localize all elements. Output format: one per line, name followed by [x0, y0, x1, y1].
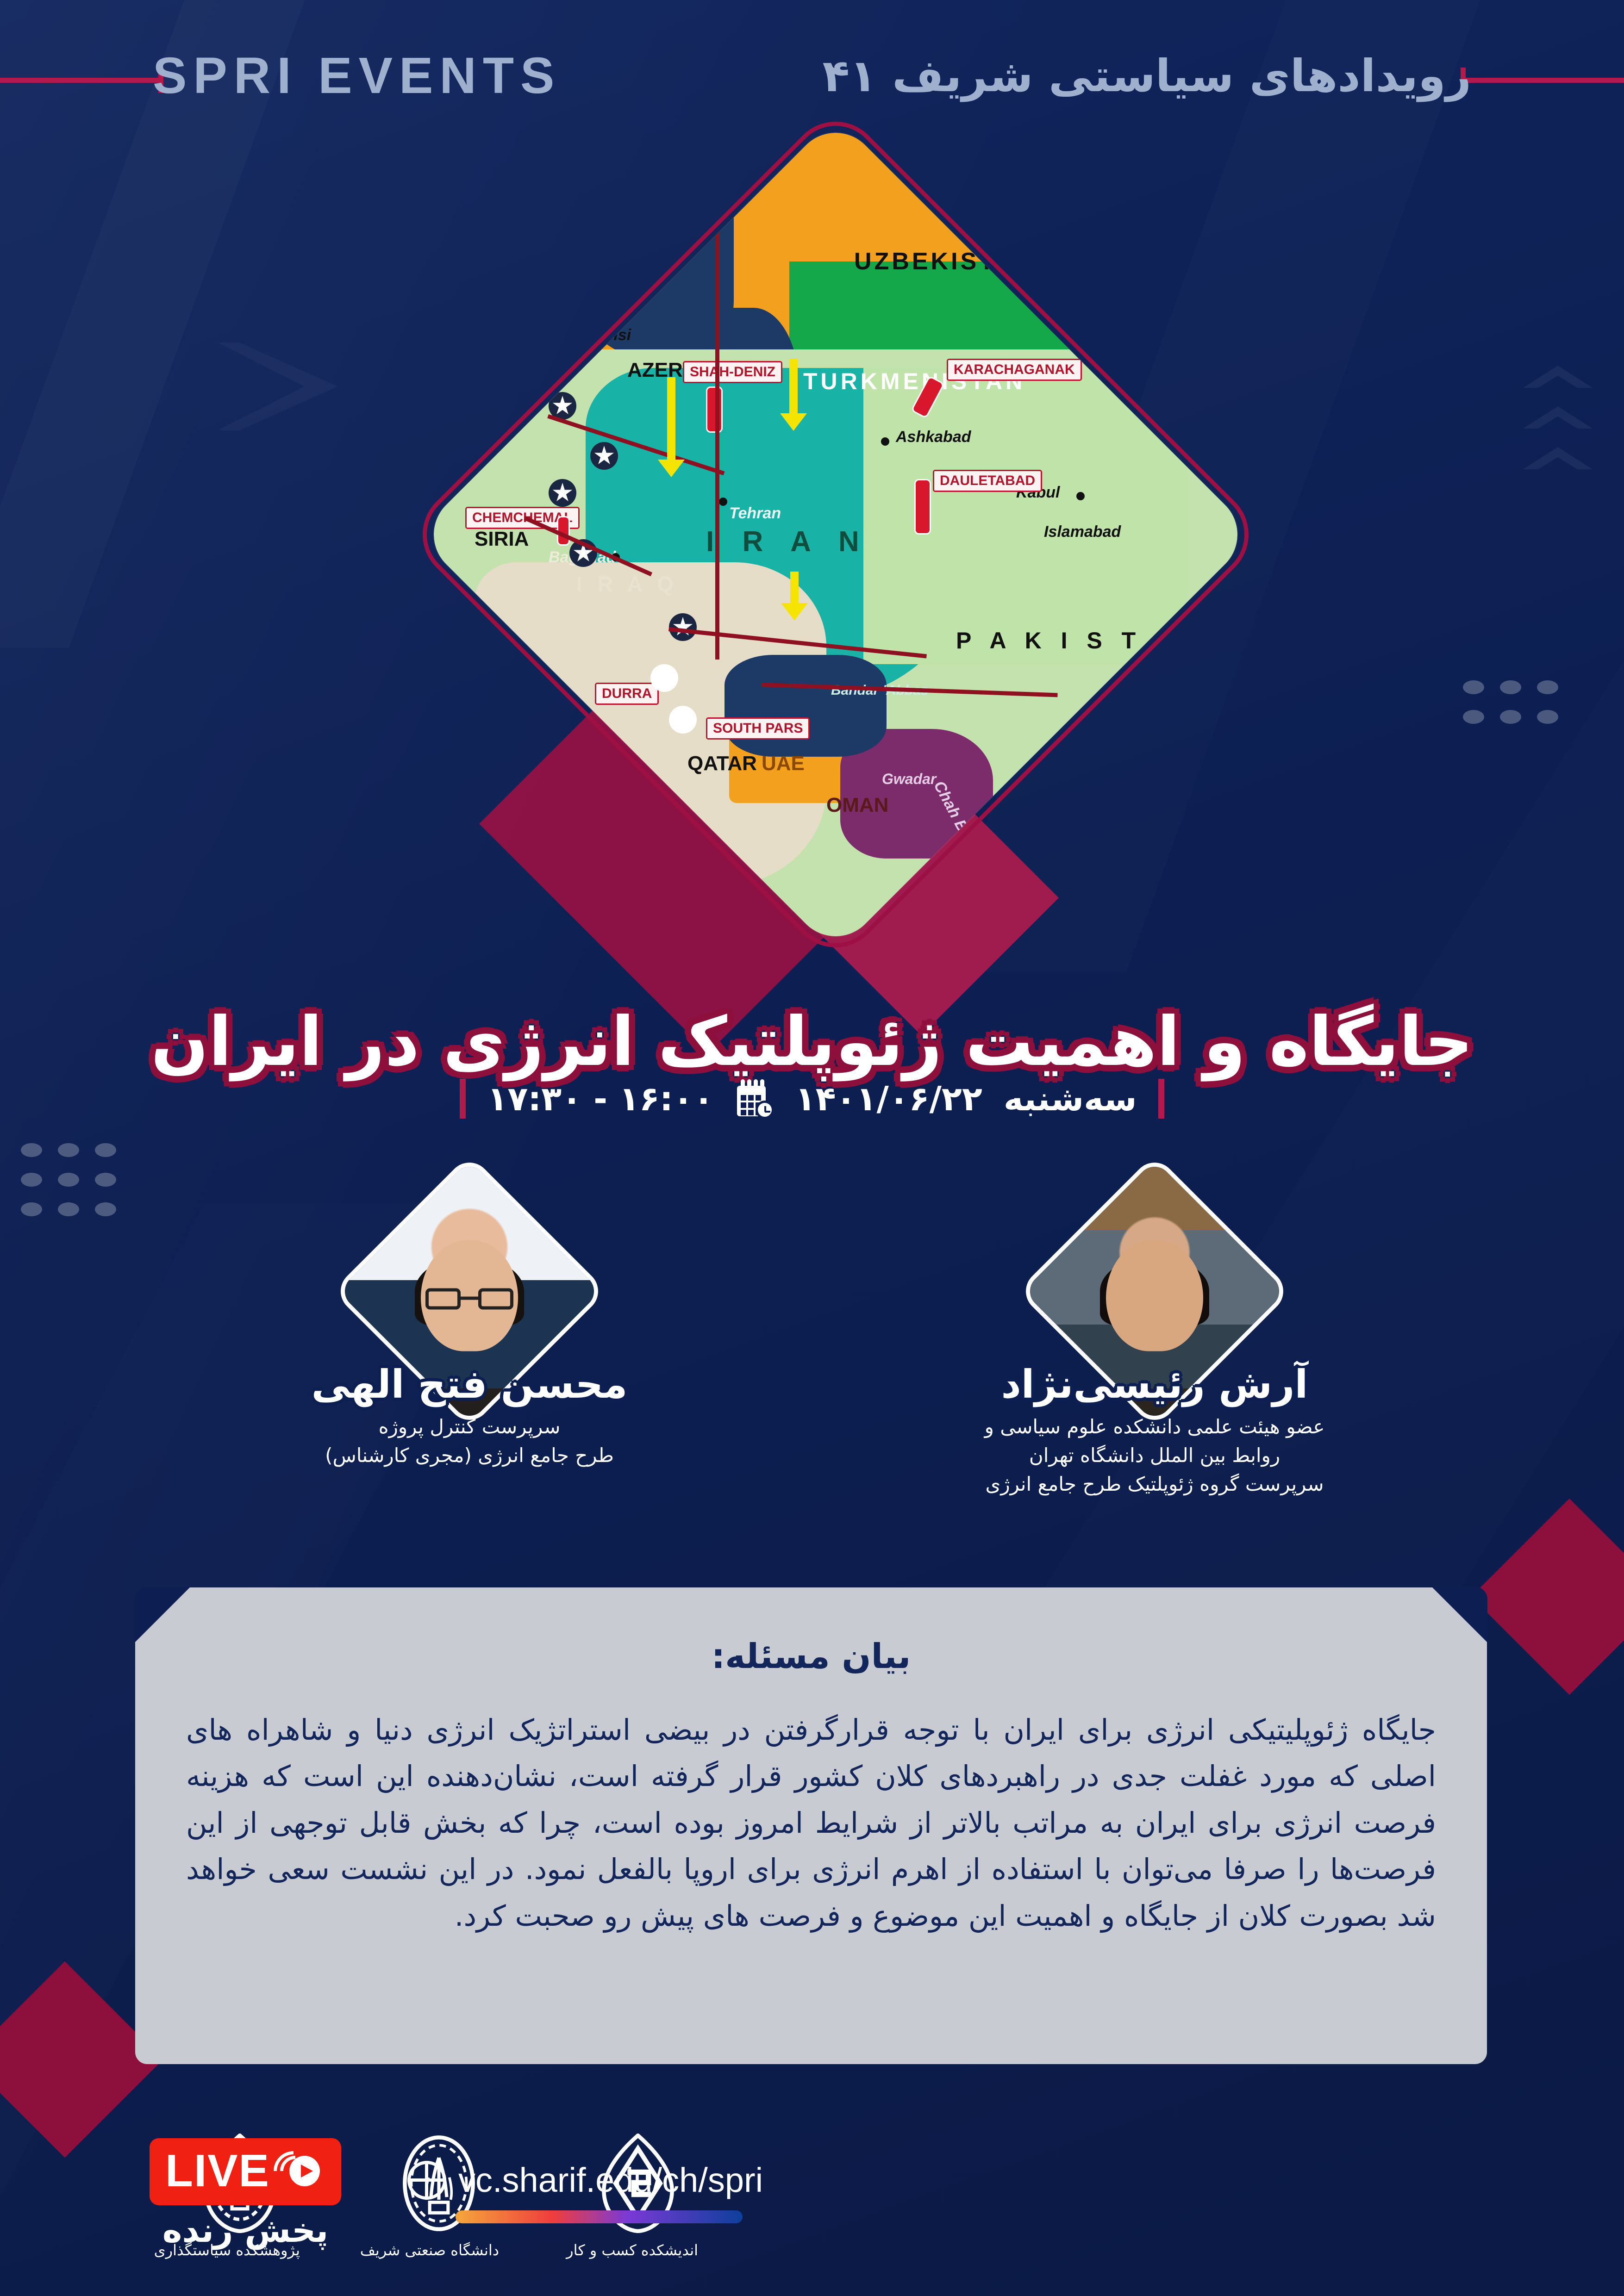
statement-panel: بیان مسئله: جایگاه ژئوپلیتیکی انرژی برای… [135, 1587, 1487, 2064]
speaker-role-line: روابط بین الملل دانشگاه تهران [979, 1441, 1330, 1470]
schedule-divider [1158, 1079, 1164, 1119]
live-caption: پخش زنده [106, 2211, 384, 2250]
avatar [372, 1194, 567, 1388]
chevron-up-icon [1523, 447, 1593, 469]
stream-url-text: vc.sharif.edu/ch/spri [458, 2160, 763, 2200]
dot-grid-top-right [1463, 680, 1558, 724]
header-rule-right [1462, 78, 1624, 83]
stream-url[interactable]: vc.sharif.edu/ch/spri [407, 2160, 763, 2200]
poster-header: SPRI EVENTS رویدادهای سیاستی شریف ۴۱ [0, 51, 1624, 106]
chevron-right-icon [218, 342, 338, 430]
schedule-bar: سه‌شنبه ۱۴۰۱/۰۶/۲۲ ۱۶:۰۰ - ۱۷:۳۰ [0, 1078, 1624, 1119]
page-title: جایگاه و اهمیت ژئوپلتیک انرژی در ایران [0, 1002, 1624, 1081]
accent-square-top-right [1471, 1499, 1624, 1695]
chevron-decoration-left [218, 342, 338, 430]
logo-caption: اندیشکده کسب و کار [578, 2241, 698, 2259]
live-section: LIVE پخش زنده [106, 2138, 384, 2250]
hero-map-region: UZBEKISTAN TURKMENISTAN AZERB. I R A N I… [407, 106, 1264, 963]
speaker-name: آرش رئیسی‌نژاد [979, 1362, 1330, 1407]
broadcast-icon [281, 2153, 325, 2189]
brand-title-en: SPRI EVENTS [153, 46, 561, 105]
chevron-up-icon [1523, 406, 1593, 429]
speakers-section: آرش رئیسی‌نژاد عضو هیئت علمی دانشکده علو… [0, 1194, 1624, 1499]
speaker-name: محسن فتح الهی [294, 1362, 645, 1407]
globe-icon [407, 2161, 446, 2200]
schedule-divider [460, 1079, 466, 1119]
schedule-day: سه‌شنبه [1004, 1079, 1137, 1118]
chevron-decoration-right [1523, 366, 1593, 488]
brand-title-fa: رویدادهای سیاستی شریف ۴۱ [822, 50, 1471, 102]
speaker-card: آرش رئیسی‌نژاد عضو هیئت علمی دانشکده علو… [979, 1194, 1330, 1499]
calendar-clock-icon [735, 1078, 774, 1119]
chevron-up-icon [1523, 366, 1593, 388]
speaker-role-line: سرپرست گروه ژئوپلتیک طرح جامع انرژی [979, 1470, 1330, 1499]
statement-body: جایگاه ژئوپلیتیکی انرژی برای ایران با تو… [186, 1707, 1436, 1939]
schedule-date: ۱۴۰۱/۰۶/۲۲ [795, 1079, 982, 1118]
header-rule-left [0, 78, 162, 83]
live-badge[interactable]: LIVE [150, 2138, 341, 2205]
live-label: LIVE [165, 2145, 270, 2197]
speaker-role-line: طرح جامع انرژی (مجری کارشناس) [294, 1441, 645, 1470]
statement-heading: بیان مسئله: [186, 1636, 1436, 1676]
poster-footer: اندیشکده کسب و کار دانشگاه صنعتی شریف [0, 2129, 1624, 2296]
schedule-time: ۱۶:۰۰ - ۱۷:۳۰ [487, 1079, 713, 1118]
avatar [1057, 1194, 1252, 1388]
gradient-underline [456, 2210, 743, 2223]
speaker-card: محسن فتح الهی سرپرست کنترل پروژه طرح جام… [294, 1194, 645, 1499]
speaker-role: عضو هیئت علمی دانشکده علوم سیاسی و روابط… [979, 1412, 1330, 1499]
event-poster: SPRI EVENTS رویدادهای سیاستی شریف ۴۱ [0, 0, 1624, 2296]
logo-caption: دانشگاه صنعتی شریف [379, 2241, 499, 2259]
